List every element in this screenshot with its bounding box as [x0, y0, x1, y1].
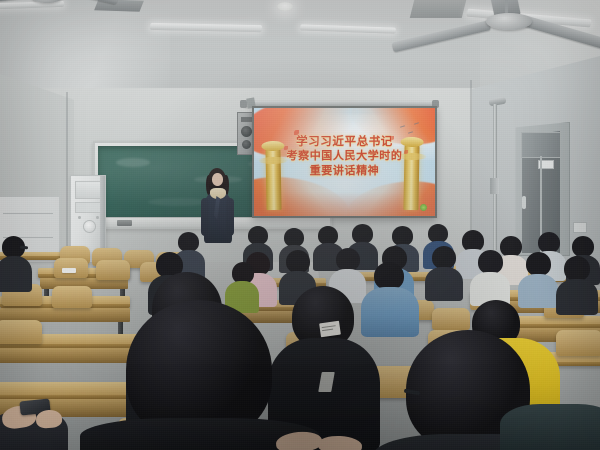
slide-title-line-1: 学习习近平总书记	[254, 134, 435, 149]
projection-screen: 学习习近平总书记 考察中国人民大学时的 重要讲话精神	[252, 106, 437, 218]
fan-blade	[0, 0, 36, 5]
wall-seam	[66, 92, 68, 272]
dome-light	[277, 2, 293, 11]
ceiling-fan	[400, 0, 600, 60]
chair-back	[52, 286, 92, 308]
ceiling-fan	[0, 0, 130, 34]
white-label-tag	[319, 321, 341, 338]
slide-title-line-2: 考察中国人民大学时的	[254, 149, 435, 164]
wall-socket	[573, 222, 587, 233]
pointer-dot-icon	[420, 204, 427, 211]
fan-hub	[32, 0, 62, 3]
conduit-junction-box	[490, 178, 499, 194]
desk-panel	[0, 348, 144, 363]
paper-sheet[interactable]	[62, 268, 76, 273]
chair-back	[432, 308, 470, 330]
presenter-face	[212, 173, 223, 186]
ac-dial-icon[interactable]	[83, 220, 96, 233]
classroom-photo: 学习习近平总书记 考察中国人民大学时的 重要讲话精神	[0, 0, 600, 450]
presenter-speaker	[200, 168, 234, 248]
door-transom-window	[521, 132, 561, 158]
wall-conduit	[493, 104, 497, 250]
chair-back	[96, 260, 130, 280]
presenter-arm	[201, 198, 209, 236]
chair-back	[556, 330, 600, 356]
door-handle[interactable]	[522, 196, 526, 209]
ac-vent	[75, 181, 101, 199]
presenter-arm	[226, 198, 234, 236]
chair-back	[0, 320, 42, 344]
slide-title-block: 学习习近平总书记 考察中国人民大学时的 重要讲话精神	[254, 134, 435, 179]
fan-blade	[56, 0, 118, 4]
ac-panel	[75, 202, 101, 213]
fan-rod	[505, 0, 508, 14]
fan-hub	[486, 13, 532, 30]
fan-blade	[391, 20, 491, 52]
eraser[interactable]	[117, 220, 132, 226]
slide-title-line-3: 重要讲话精神	[254, 164, 435, 179]
